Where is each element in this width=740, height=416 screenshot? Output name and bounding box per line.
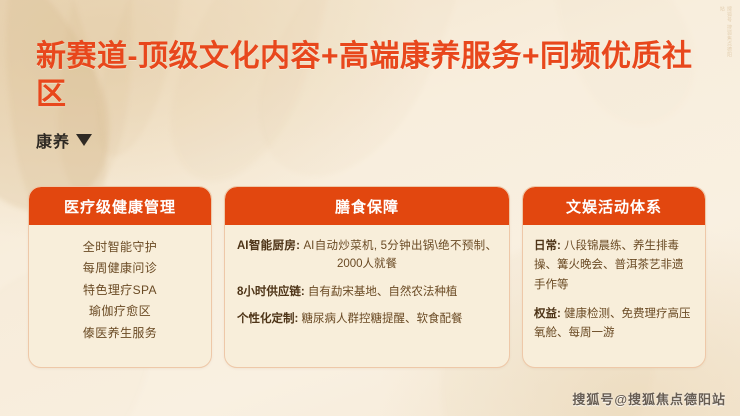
list-item-text: 糖尿病人群控糖提醒、软食配餐	[298, 313, 462, 325]
card-title: 医疗级健康管理	[29, 187, 211, 225]
feature-cards-row: 医疗级健康管理 全时智能守护 每周健康问诊 特色理疗SPA 瑜伽疗愈区 傣医养生…	[28, 186, 712, 368]
list-item: 特色理疗SPA	[83, 281, 157, 300]
list-item-label: 权益:	[534, 308, 561, 320]
list-item-label: 个性化定制:	[237, 313, 298, 325]
list-item: 每周健康问诊	[83, 259, 157, 278]
list-item-label: 日常:	[534, 240, 561, 252]
slide-canvas: 搜狐号 搜狐焦点德阳站 新赛道-顶级文化内容+高端康养服务+同频优质社区 康养 …	[0, 0, 740, 416]
section-subtitle: 康养	[36, 128, 696, 152]
card-dining-guarantee: 膳食保障 AI智能厨房: AI自动炒菜机, 5分钟出锅\绝不预制、2000人就餐…	[224, 186, 510, 368]
list-item: 傣医养生服务	[83, 324, 157, 343]
card-body: AI智能厨房: AI自动炒菜机, 5分钟出锅\绝不预制、2000人就餐 8小时供…	[225, 225, 509, 367]
list-item: 8小时供应链: 自有勐宋基地、自然农法种植	[237, 283, 497, 301]
list-item: 个性化定制: 糖尿病人群控糖提醒、软食配餐	[237, 310, 497, 328]
card-cultural-activity-system: 文娱活动体系 日常: 八段锦晨练、养生排毒操、篝火晚会、普洱茶艺非遗手作等 权益…	[522, 186, 706, 368]
caret-down-icon	[76, 134, 92, 146]
watermark: 搜狐号@搜狐焦点德阳站	[572, 389, 726, 408]
list-item: AI智能厨房: AI自动炒菜机, 5分钟出锅\绝不预制、2000人就餐	[237, 237, 497, 274]
header-block: 新赛道-顶级文化内容+高端康养服务+同频优质社区 康养	[36, 38, 696, 152]
list-item-text: 自有勐宋基地、自然农法种植	[305, 286, 458, 298]
list-item-text: AI自动炒菜机, 5分钟出锅\绝不预制、2000人就餐	[300, 240, 497, 270]
card-body: 日常: 八段锦晨练、养生排毒操、篝火晚会、普洱茶艺非遗手作等 权益: 健康检测、…	[523, 225, 705, 367]
card-title: 文娱活动体系	[523, 187, 705, 225]
list-item: 瑜伽疗愈区	[89, 302, 151, 321]
corner-watermark: 搜狐号 搜狐焦点德阳站	[698, 6, 732, 58]
list-item-label: 8小时供应链:	[237, 286, 305, 298]
subtitle-label: 康养	[36, 128, 70, 152]
card-medical-health-management: 医疗级健康管理 全时智能守护 每周健康问诊 特色理疗SPA 瑜伽疗愈区 傣医养生…	[28, 186, 212, 368]
list-item: 日常: 八段锦晨练、养生排毒操、篝火晚会、普洱茶艺非遗手作等	[534, 237, 694, 295]
list-item: 全时智能守护	[83, 238, 157, 257]
list-item: 权益: 健康检测、免费理疗高压氧舱、每周一游	[534, 305, 694, 344]
page-title: 新赛道-顶级文化内容+高端康养服务+同频优质社区	[36, 38, 696, 114]
card-body: 全时智能守护 每周健康问诊 特色理疗SPA 瑜伽疗愈区 傣医养生服务	[29, 225, 211, 367]
list-item-label: AI智能厨房:	[237, 240, 300, 252]
card-title: 膳食保障	[225, 187, 509, 225]
